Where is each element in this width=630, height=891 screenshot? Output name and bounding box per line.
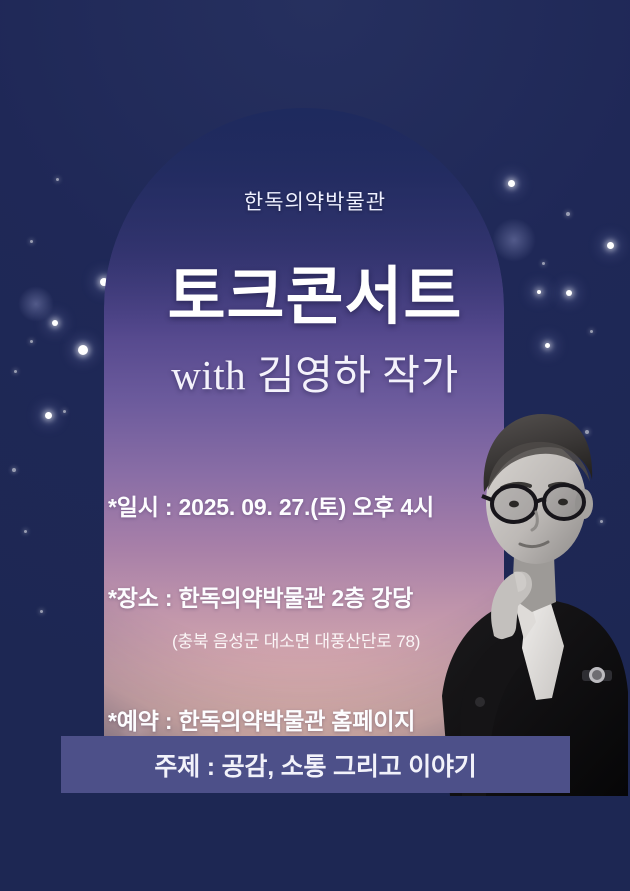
- detail-reservation: *예약 : 한독의약박물관 홈페이지: [108, 702, 504, 736]
- poster-canvas: 한독의약박물관 토크콘서트 with 김영하 작가 *일시 : 2025. 09…: [0, 0, 630, 891]
- topic-banner: 주제 : 공감, 소통 그리고 이야기: [61, 736, 570, 793]
- detail-date: *일시 : 2025. 09. 27.(토) 오후 4시: [108, 488, 504, 522]
- poster-title: 토크콘서트: [0, 266, 630, 329]
- poster-subtitle: with 김영하 작가: [0, 352, 630, 399]
- topic-banner-text: 주제 : 공감, 소통 그리고 이야기: [154, 747, 476, 783]
- organization-name: 한독의약박물관: [0, 186, 630, 216]
- event-details: *일시 : 2025. 09. 27.(토) 오후 4시 *장소 : 한독의약박…: [104, 488, 504, 736]
- detail-venue: *장소 : 한독의약박물관 2층 강당: [108, 579, 504, 613]
- detail-address: (충북 음성군 대소면 대풍산단로 78): [172, 627, 504, 652]
